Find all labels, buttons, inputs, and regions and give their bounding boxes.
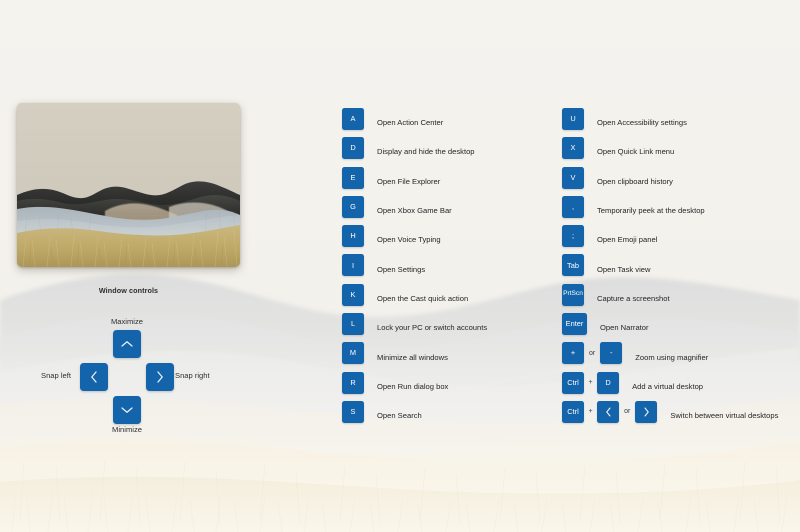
key-a[interactable]: A	[342, 108, 364, 130]
key-u[interactable]: U	[562, 108, 584, 130]
snap-right-button[interactable]	[146, 363, 174, 391]
shortcut-description: Open Task view	[597, 265, 650, 274]
snap-left-label: Snap left	[41, 371, 71, 380]
key-m[interactable]: M	[342, 342, 364, 364]
chevron-up-icon	[121, 340, 133, 348]
key--[interactable]: -	[600, 342, 622, 364]
shortcut-description: Open Search	[377, 411, 422, 420]
shortcut-description: Display and hide the desktop	[377, 147, 475, 156]
shortcut-row: VOpen clipboard history	[562, 167, 778, 196]
chevron-left-icon	[605, 407, 612, 417]
key-e[interactable]: E	[342, 167, 364, 189]
shortcut-description: Capture a screenshot	[597, 294, 670, 303]
shortcut-row: TabOpen Task view	[562, 254, 778, 283]
snap-left-button[interactable]	[80, 363, 108, 391]
wallpaper-preview	[17, 103, 240, 267]
key--[interactable]: +	[562, 342, 584, 364]
shortcut-row: ,Temporarily peek at the desktop	[562, 196, 778, 225]
key-group: E	[342, 167, 364, 189]
key-chevron-right[interactable]	[635, 401, 657, 423]
key-r[interactable]: R	[342, 372, 364, 394]
maximize-label: Maximize	[0, 317, 254, 326]
key-x[interactable]: X	[562, 137, 584, 159]
key-i[interactable]: I	[342, 254, 364, 276]
shortcut-description: Open clipboard history	[597, 177, 673, 186]
key-group: X	[562, 137, 584, 159]
shortcut-row: EOpen File Explorer	[342, 167, 487, 196]
joiner-or: or	[584, 350, 600, 357]
minimize-label: Minimize	[0, 425, 254, 434]
key-group: Ctrl+or	[562, 401, 657, 423]
shortcut-row: AOpen Action Center	[342, 108, 487, 137]
shortcut-description: Open Action Center	[377, 118, 443, 127]
key-g[interactable]: G	[342, 196, 364, 218]
shortcut-row: LLock your PC or switch accounts	[342, 313, 487, 342]
shortcut-row: SOpen Search	[342, 401, 487, 430]
shortcut-row: Ctrl+orSwitch between virtual desktops	[562, 401, 778, 430]
shortcut-description: Temporarily peek at the desktop	[597, 206, 705, 215]
shortcut-description: Open File Explorer	[377, 177, 440, 186]
key-h[interactable]: H	[342, 225, 364, 247]
key-ctrl[interactable]: Ctrl	[562, 401, 584, 423]
shortcut-description: Open Xbox Game Bar	[377, 206, 452, 215]
shortcut-description: Open Voice Typing	[377, 235, 441, 244]
key-v[interactable]: V	[562, 167, 584, 189]
chevron-right-icon	[643, 407, 650, 417]
key-group: K	[342, 284, 364, 306]
shortcut-row: XOpen Quick Link menu	[562, 137, 778, 166]
key-group: ;	[562, 225, 584, 247]
key-ctrl[interactable]: Ctrl	[562, 372, 584, 394]
joiner-plus: +	[584, 379, 597, 386]
key-s[interactable]: S	[342, 401, 364, 423]
key-group: Enter	[562, 313, 587, 335]
key-group: G	[342, 196, 364, 218]
key-group: U	[562, 108, 584, 130]
key-enter[interactable]: Enter	[562, 313, 587, 335]
shortcut-row: IOpen Settings	[342, 254, 487, 283]
key-chevron-left[interactable]	[597, 401, 619, 423]
window-controls-title: Window controls	[17, 286, 240, 295]
shortcut-description: Add a virtual desktop	[632, 382, 703, 391]
shortcut-row: Ctrl+DAdd a virtual desktop	[562, 372, 778, 401]
shortcut-row: KOpen the Cast quick action	[342, 284, 487, 313]
shortcut-row: PrtScnCapture a screenshot	[562, 284, 778, 313]
shortcut-row: MMinimize all windows	[342, 342, 487, 371]
key-group: S	[342, 401, 364, 423]
shortcut-row: +or-Zoom using magnifier	[562, 342, 778, 371]
key-group: L	[342, 313, 364, 335]
key-group: D	[342, 137, 364, 159]
key-group: I	[342, 254, 364, 276]
shortcut-description: Open Accessibility settings	[597, 118, 687, 127]
shortcut-description: Zoom using magnifier	[635, 353, 708, 362]
key-group: H	[342, 225, 364, 247]
minimize-button[interactable]	[113, 396, 141, 424]
shortcut-row: UOpen Accessibility settings	[562, 108, 778, 137]
key--[interactable]: ;	[562, 225, 584, 247]
shortcuts-left-column: AOpen Action CenterDDisplay and hide the…	[342, 108, 487, 430]
key-group: R	[342, 372, 364, 394]
chevron-right-icon	[156, 371, 164, 383]
shortcut-description: Open the Cast quick action	[377, 294, 468, 303]
shortcut-description: Switch between virtual desktops	[670, 411, 778, 420]
shortcut-row: ;Open Emoji panel	[562, 225, 778, 254]
shortcut-description: Open Settings	[377, 265, 425, 274]
shortcut-description: Lock your PC or switch accounts	[377, 323, 487, 332]
key-tab[interactable]: Tab	[562, 254, 584, 276]
shortcut-row: EnterOpen Narrator	[562, 313, 778, 342]
key-k[interactable]: K	[342, 284, 364, 306]
key-l[interactable]: L	[342, 313, 364, 335]
key-group: V	[562, 167, 584, 189]
shortcut-row: ROpen Run dialog box	[342, 372, 487, 401]
key-line: Scn	[572, 291, 583, 298]
key-group: ,	[562, 196, 584, 218]
joiner-plus: +	[584, 408, 597, 415]
shortcut-row: HOpen Voice Typing	[342, 225, 487, 254]
shortcut-description: Open Run dialog box	[377, 382, 448, 391]
chevron-left-icon	[90, 371, 98, 383]
shortcut-row: DDisplay and hide the desktop	[342, 137, 487, 166]
key-d[interactable]: D	[342, 137, 364, 159]
key-group: A	[342, 108, 364, 130]
key-group: PrtScn	[562, 284, 584, 306]
shortcut-description: Open Narrator	[600, 323, 649, 332]
shortcut-description: Minimize all windows	[377, 353, 448, 362]
key-prt-scn[interactable]: PrtScn	[562, 284, 584, 306]
key-group: Tab	[562, 254, 584, 276]
maximize-button[interactable]	[113, 330, 141, 358]
snap-right-label: Snap right	[175, 371, 210, 380]
key-group: Ctrl+D	[562, 372, 619, 394]
key--[interactable]: ,	[562, 196, 584, 218]
shortcuts-right-column: UOpen Accessibility settingsXOpen Quick …	[562, 108, 778, 430]
shortcut-row: GOpen Xbox Game Bar	[342, 196, 487, 225]
shortcut-description: Open Quick Link menu	[597, 147, 674, 156]
chevron-down-icon	[121, 406, 133, 414]
key-d[interactable]: D	[597, 372, 619, 394]
key-group: +or-	[562, 342, 622, 364]
key-line: Prt	[563, 291, 571, 298]
shortcut-description: Open Emoji panel	[597, 235, 657, 244]
key-group: M	[342, 342, 364, 364]
joiner-or: or	[619, 408, 635, 415]
